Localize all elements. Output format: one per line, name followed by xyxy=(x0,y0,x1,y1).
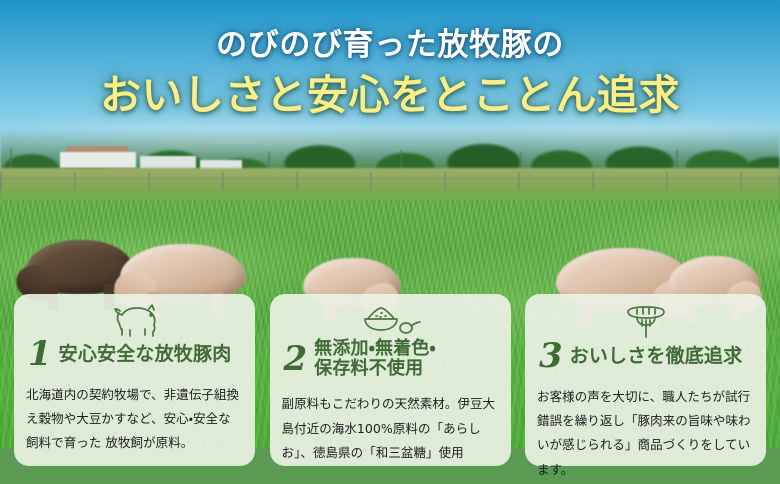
headline-block: のびのび育った放牧豚の おいしさと安心をとことん追求 xyxy=(0,0,780,120)
card-heading-2: 2 無添加・無着色・ 保存料不使用 xyxy=(282,339,499,379)
feature-card-list: 1 安心安全な放牧豚肉 北海道内の契約牧場で、非遺伝子組換え穀物や大豆かすなど、… xyxy=(14,294,766,466)
feature-card-3[interactable]: 3 おいしさを徹底追求 お客様の声を大切に、職人たちが試行錯誤を繰り返し「豚肉来… xyxy=(525,294,766,466)
card-title-2-line2: 保存料不使用 xyxy=(314,358,423,379)
pasture-fence xyxy=(0,172,780,190)
card-title-3: おいしさを徹底追求 xyxy=(570,346,743,367)
card-body-2: 副原料もこだわりの天然素材。伊豆大島付近の海水100%原料の「あらしお」、徳島県… xyxy=(282,392,499,465)
feature-card-2[interactable]: 2 無添加・無着色・ 保存料不使用 副原料もこだわりの天然素材。伊豆大島付近の海… xyxy=(270,294,511,466)
card-title-1: 安心安全な放牧豚肉 xyxy=(59,344,232,365)
card-number-2: 2 xyxy=(282,344,308,375)
barn-building xyxy=(60,152,136,168)
promo-banner: のびのび育った放牧豚の おいしさと安心をとことん追求 xyxy=(0,0,780,484)
sausage-fork-icon xyxy=(537,304,754,340)
headline-line-2: おいしさと安心をとことん追求 xyxy=(0,71,780,120)
card-body-3: お客様の声を大切に、職人たちが試行錯誤を繰り返し「豚肉来の旨味や味わいが感じられ… xyxy=(537,385,754,483)
card-number-3: 3 xyxy=(537,341,563,372)
card-title-2: 無添加・無着色・ 保存料不使用 xyxy=(314,339,436,379)
headline-line-1: のびのび育った放牧豚の xyxy=(0,26,780,65)
card-body-1: 北海道内の契約牧場で、非遺伝子組換え穀物や大豆かすなど、安心・安全な飼料で育った… xyxy=(26,383,243,456)
pig-icon xyxy=(26,304,243,338)
sugar-bowl-icon xyxy=(282,304,499,338)
feature-card-1[interactable]: 1 安心安全な放牧豚肉 北海道内の契約牧場で、非遺伝子組換え穀物や大豆かすなど、… xyxy=(14,294,255,466)
card-heading-1: 1 安心安全な放牧豚肉 xyxy=(26,339,243,370)
card-number-1: 1 xyxy=(26,339,52,370)
card-heading-3: 3 おいしさを徹底追求 xyxy=(537,341,754,372)
card-title-2-line1: 無添加・無着色・ xyxy=(314,338,436,359)
